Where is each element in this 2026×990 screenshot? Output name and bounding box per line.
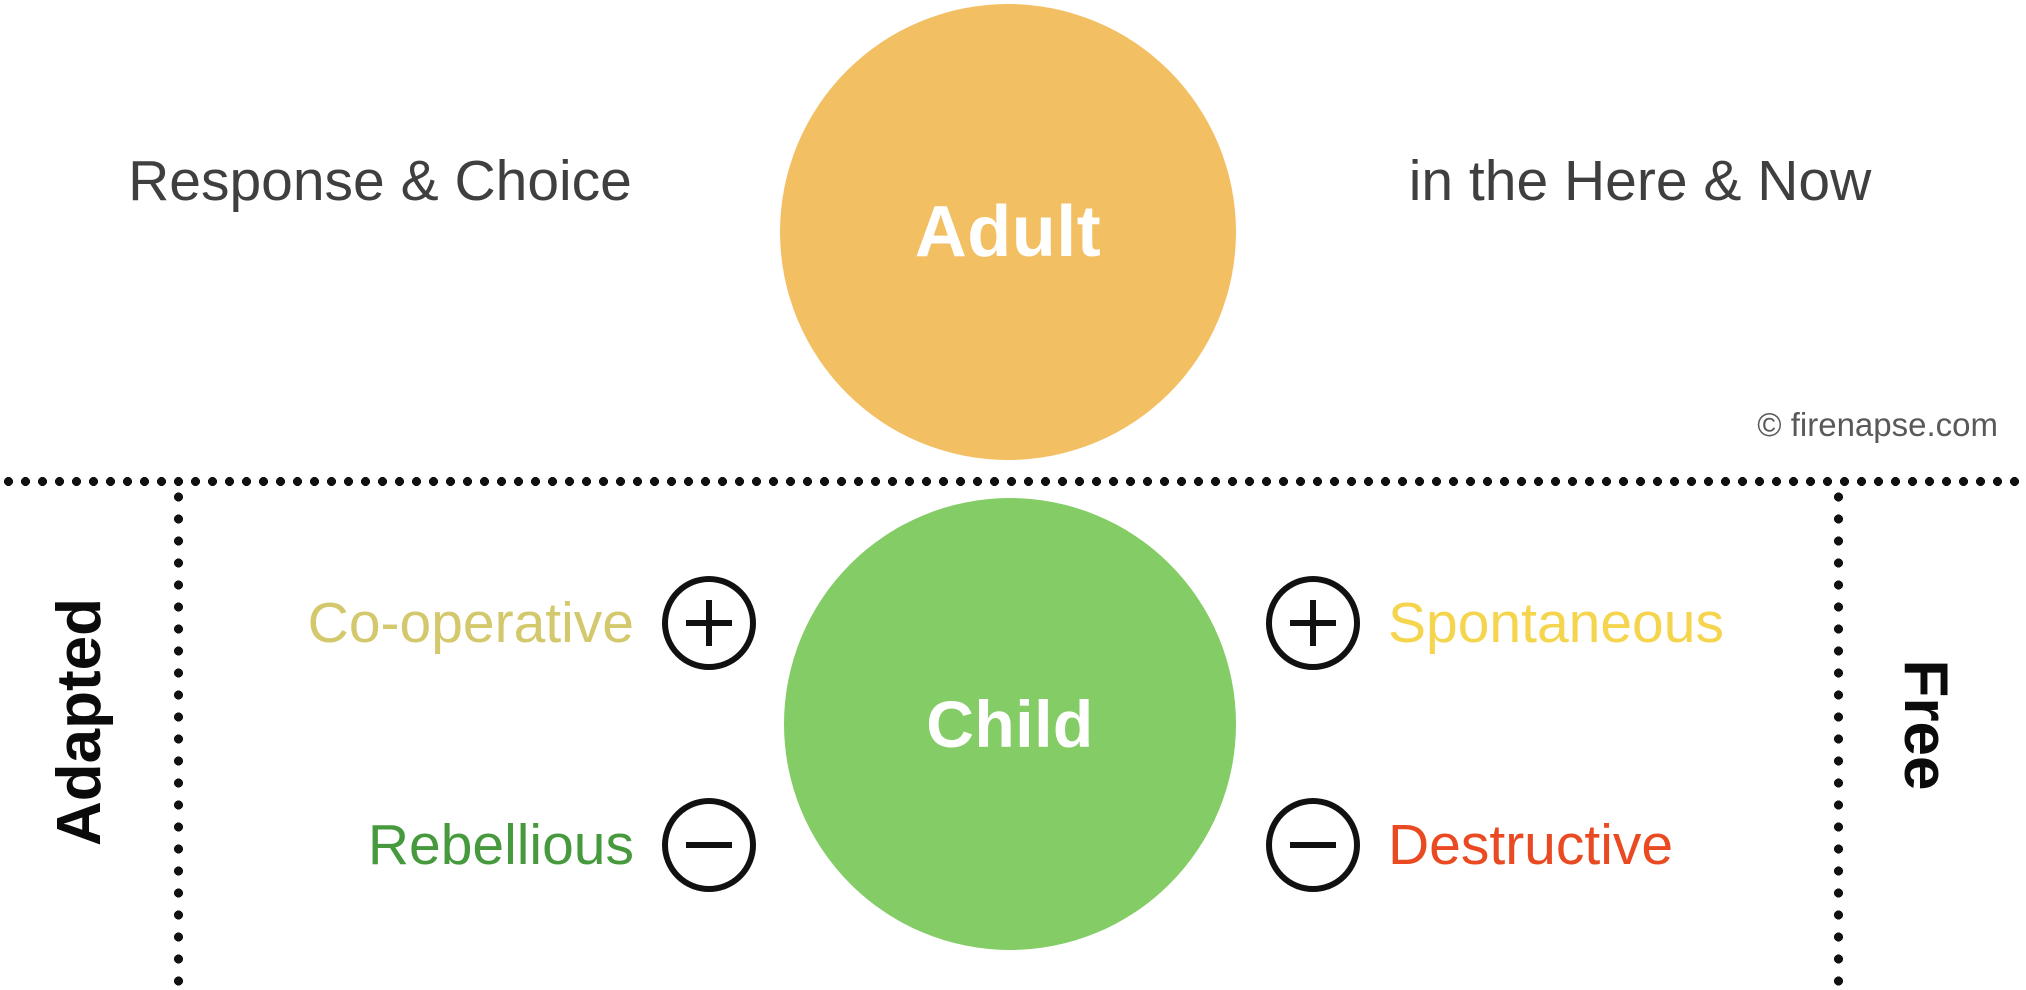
diagram-canvas: Response & Choice in the Here & Now Adul… xyxy=(0,0,2026,990)
quadrant-item-cooperative: Co-operative xyxy=(0,576,756,670)
minus-circle-icon xyxy=(1266,798,1360,892)
quadrant-item-destructive: Destructive xyxy=(1266,798,2026,892)
copyright-notice: © firenapse.com xyxy=(1757,408,1998,441)
here-and-now-text: in the Here & Now xyxy=(1255,153,2025,210)
child-circle: Child xyxy=(784,498,1236,950)
adult-circle-label: Adult xyxy=(915,196,1101,268)
cooperative-label: Co-operative xyxy=(308,595,634,652)
minus-circle-icon xyxy=(662,798,756,892)
plus-circle-icon xyxy=(1266,576,1360,670)
spontaneous-label: Spontaneous xyxy=(1388,595,1724,652)
horizontal-dotted-divider xyxy=(0,477,2026,486)
plus-circle-icon xyxy=(662,576,756,670)
quadrant-item-rebellious: Rebellious xyxy=(0,798,756,892)
rebellious-label: Rebellious xyxy=(368,817,634,874)
child-circle-label: Child xyxy=(926,691,1093,757)
response-and-choice-text: Response & Choice xyxy=(0,153,760,210)
destructive-label: Destructive xyxy=(1388,817,1673,874)
right-vertical-dotted-divider xyxy=(1834,486,1843,990)
quadrant-item-spontaneous: Spontaneous xyxy=(1266,576,2026,670)
adult-circle: Adult xyxy=(780,4,1236,460)
left-vertical-dotted-divider xyxy=(174,486,183,990)
